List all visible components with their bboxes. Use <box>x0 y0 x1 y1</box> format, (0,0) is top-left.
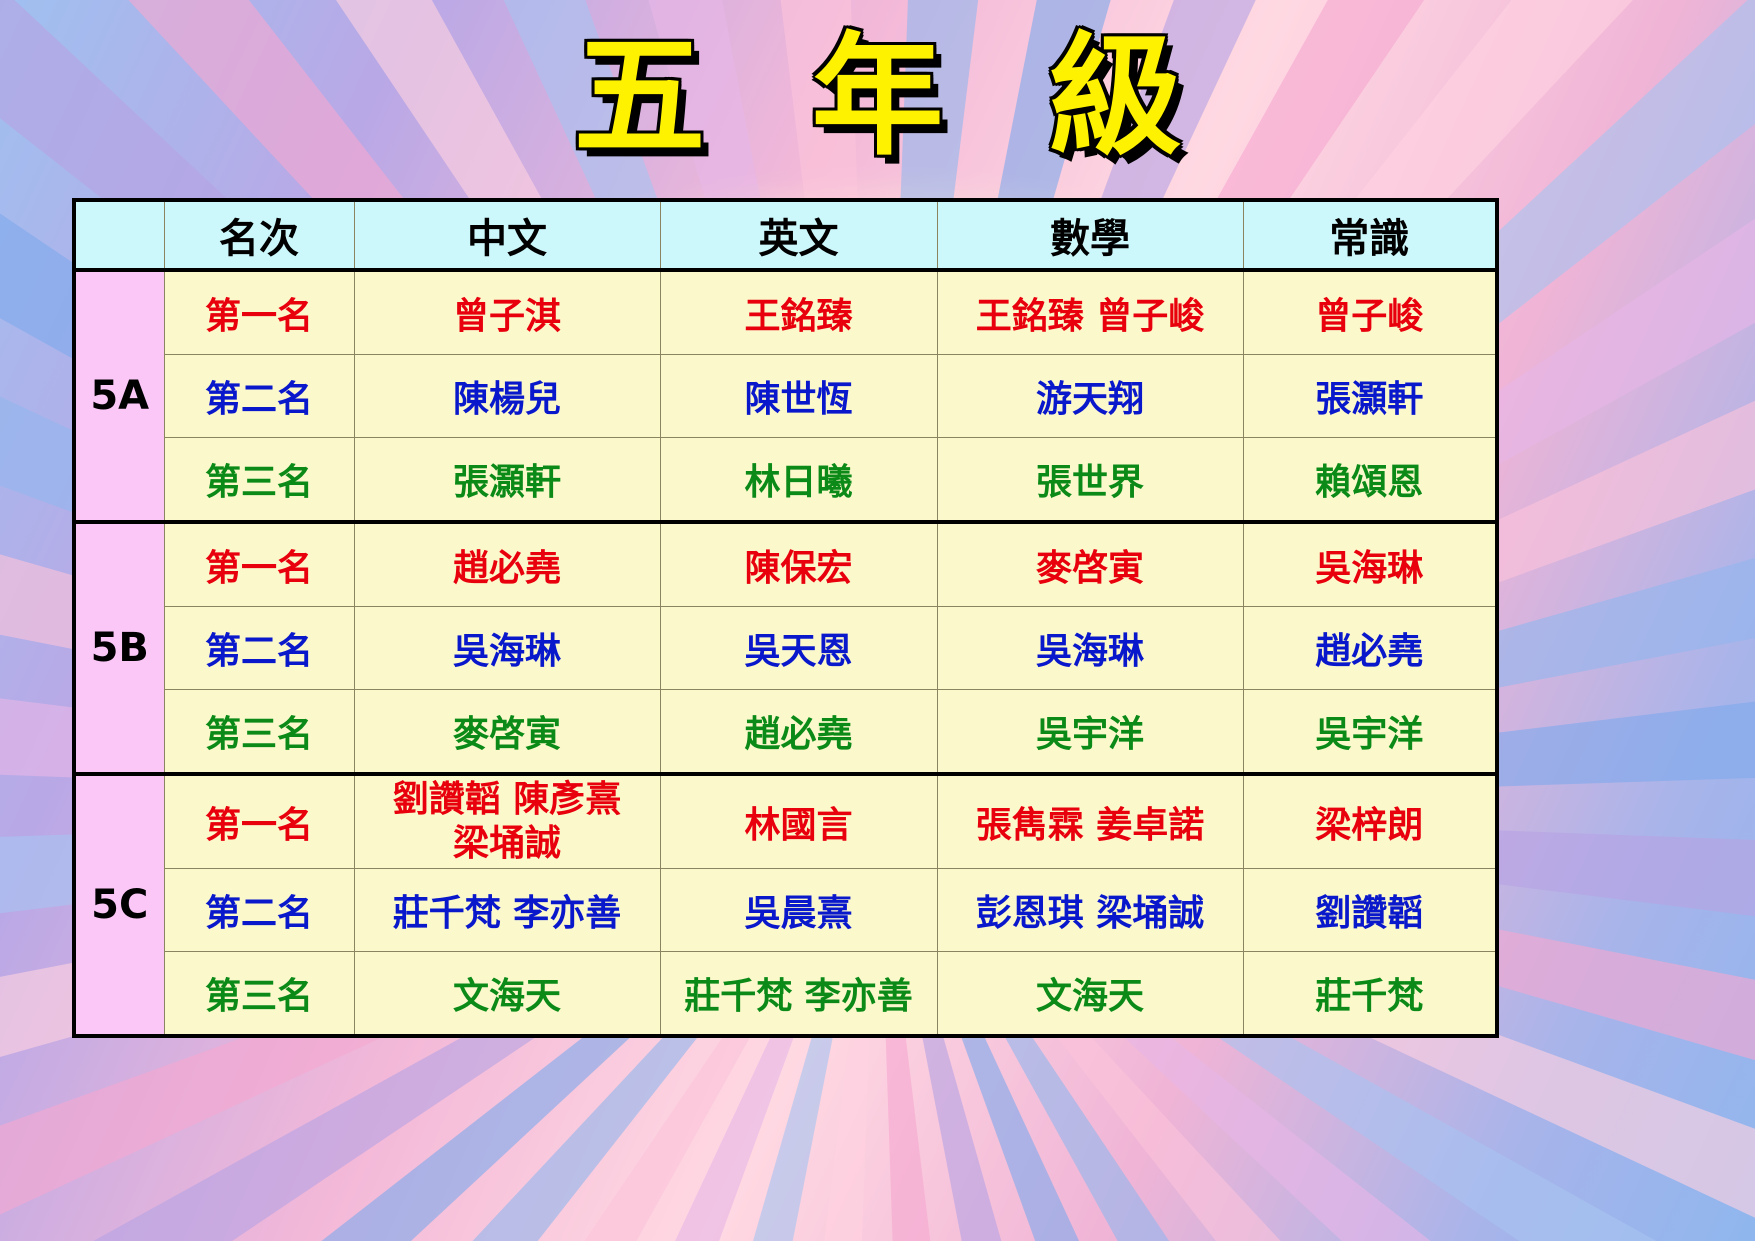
rank-label: 第二名 <box>164 607 354 690</box>
cell-chinese: 吳海琳 <box>354 607 660 690</box>
cell-math: 張雋霖 姜卓諾 <box>937 774 1243 868</box>
cell-chinese: 陳楊兒 <box>354 355 660 438</box>
cell-math: 文海天 <box>937 951 1243 1036</box>
rank-table-wrapper: 名次 中文 英文 數學 常識 5A第一名曾子淇王銘臻王銘臻 曾子峻曾子峻第二名陳… <box>72 198 1499 1038</box>
rank-label: 第一名 <box>164 270 354 355</box>
table-row: 第二名莊千梵 李亦善吳晨熹彭恩琪 梁埇誠劉讚韜 <box>74 868 1497 951</box>
table-row: 第三名文海天莊千梵 李亦善文海天莊千梵 <box>74 951 1497 1036</box>
table-row: 5B第一名趙必堯陳保宏麥啓寅吳海琳 <box>74 522 1497 607</box>
table-row: 第二名陳楊兒陳世恆游天翔張灝軒 <box>74 355 1497 438</box>
header-cell-english: 英文 <box>660 200 937 270</box>
poster-canvas: 五 年 級 名次 中文 英文 數學 常識 5A第一名曾子淇王銘臻王銘臻 曾子峻曾… <box>0 0 1755 1241</box>
rank-label: 第三名 <box>164 951 354 1036</box>
cell-chinese: 曾子淇 <box>354 270 660 355</box>
cell-general: 梁梓朗 <box>1243 774 1497 868</box>
cell-math: 吳海琳 <box>937 607 1243 690</box>
rank-table: 名次 中文 英文 數學 常識 5A第一名曾子淇王銘臻王銘臻 曾子峻曾子峻第二名陳… <box>72 198 1499 1038</box>
cell-english: 莊千梵 李亦善 <box>660 951 937 1036</box>
cell-english: 吳晨熹 <box>660 868 937 951</box>
cell-math: 張世界 <box>937 438 1243 523</box>
table-header-row: 名次 中文 英文 數學 常識 <box>74 200 1497 270</box>
cell-english: 林日曦 <box>660 438 937 523</box>
rank-label: 第三名 <box>164 438 354 523</box>
table-row: 5C第一名劉讚韜 陳彥熹梁埇誠林國言張雋霖 姜卓諾梁梓朗 <box>74 774 1497 868</box>
cell-chinese: 麥啓寅 <box>354 690 660 775</box>
cell-english: 陳世恆 <box>660 355 937 438</box>
table-row: 5A第一名曾子淇王銘臻王銘臻 曾子峻曾子峻 <box>74 270 1497 355</box>
header-cell-rank: 名次 <box>164 200 354 270</box>
cell-math: 麥啓寅 <box>937 522 1243 607</box>
cell-math: 彭恩琪 梁埇誠 <box>937 868 1243 951</box>
table-row: 第二名吳海琳吳天恩吳海琳趙必堯 <box>74 607 1497 690</box>
cell-chinese: 趙必堯 <box>354 522 660 607</box>
cell-general: 賴頌恩 <box>1243 438 1497 523</box>
cell-general: 張灝軒 <box>1243 355 1497 438</box>
class-label-5a: 5A <box>74 270 164 522</box>
header-cell-math: 數學 <box>937 200 1243 270</box>
cell-chinese: 張灝軒 <box>354 438 660 523</box>
rank-label: 第一名 <box>164 774 354 868</box>
rank-label: 第二名 <box>164 868 354 951</box>
cell-english: 趙必堯 <box>660 690 937 775</box>
cell-english: 陳保宏 <box>660 522 937 607</box>
cell-general: 趙必堯 <box>1243 607 1497 690</box>
header-cell-chinese: 中文 <box>354 200 660 270</box>
rank-label: 第一名 <box>164 522 354 607</box>
cell-english: 王銘臻 <box>660 270 937 355</box>
cell-general: 劉讚韜 <box>1243 868 1497 951</box>
header-cell-general: 常識 <box>1243 200 1497 270</box>
cell-english: 吳天恩 <box>660 607 937 690</box>
table-row: 第三名麥啓寅趙必堯吳宇洋吳宇洋 <box>74 690 1497 775</box>
cell-chinese: 劉讚韜 陳彥熹梁埇誠 <box>354 774 660 868</box>
cell-math: 王銘臻 曾子峻 <box>937 270 1243 355</box>
cell-english: 林國言 <box>660 774 937 868</box>
class-label-5b: 5B <box>74 522 164 774</box>
cell-math: 吳宇洋 <box>937 690 1243 775</box>
title-block: 五 年 級 <box>0 22 1755 174</box>
cell-general: 吳宇洋 <box>1243 690 1497 775</box>
table-row: 第三名張灝軒林日曦張世界賴頌恩 <box>74 438 1497 523</box>
rank-label: 第二名 <box>164 355 354 438</box>
header-cell-class <box>74 200 164 270</box>
rank-label: 第三名 <box>164 690 354 775</box>
cell-general: 吳海琳 <box>1243 522 1497 607</box>
table-body: 5A第一名曾子淇王銘臻王銘臻 曾子峻曾子峻第二名陳楊兒陳世恆游天翔張灝軒第三名張… <box>74 270 1497 1036</box>
class-label-5c: 5C <box>74 774 164 1036</box>
cell-general: 曾子峻 <box>1243 270 1497 355</box>
page-title: 五 年 級 <box>544 22 1212 174</box>
cell-general: 莊千梵 <box>1243 951 1497 1036</box>
cell-chinese: 文海天 <box>354 951 660 1036</box>
cell-math: 游天翔 <box>937 355 1243 438</box>
cell-chinese: 莊千梵 李亦善 <box>354 868 660 951</box>
